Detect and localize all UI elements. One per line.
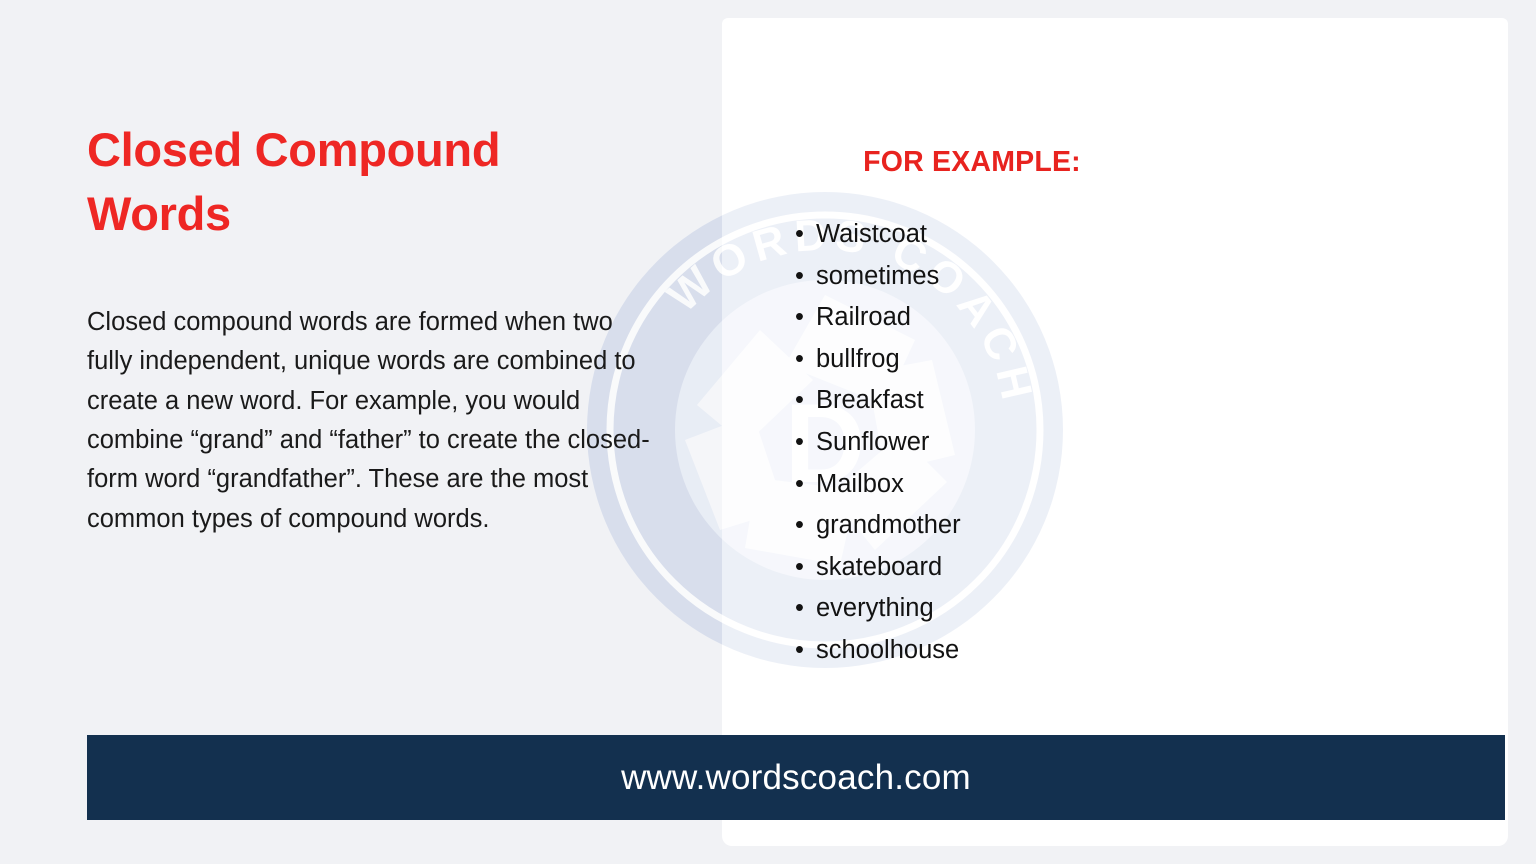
list-item-label: Railroad <box>816 303 911 331</box>
left-column: Closed Compound Words Closed compound wo… <box>87 118 662 539</box>
bullet-icon: • <box>795 380 816 422</box>
bullet-icon: • <box>795 630 816 672</box>
footer-bar: www.wordscoach.com <box>87 735 1505 820</box>
bullet-icon: • <box>795 588 816 630</box>
list-item-label: everything <box>816 594 934 622</box>
list-item: •bullfrog <box>795 339 961 381</box>
list-item-label: Waistcoat <box>816 220 927 248</box>
slide-root: D WORDS COACH Closed Compound Words Clos… <box>0 0 1536 864</box>
bullet-icon: • <box>795 297 816 339</box>
list-item-label: Mailbox <box>816 470 904 498</box>
bullet-icon: • <box>795 214 816 256</box>
description-paragraph: Closed compound words are formed when tw… <box>87 303 657 539</box>
list-item: •Mailbox <box>795 464 961 506</box>
list-item: •Breakfast <box>795 380 961 422</box>
list-item-label: sometimes <box>816 262 939 290</box>
list-item-label: schoolhouse <box>816 636 959 664</box>
example-words-list: •Waistcoat•sometimes•Railroad•bullfrog•B… <box>795 214 961 672</box>
list-item-label: Sunflower <box>816 428 929 456</box>
list-item-label: Breakfast <box>816 386 924 414</box>
bullet-icon: • <box>795 339 816 381</box>
list-item-label: skateboard <box>816 553 942 581</box>
bullet-icon: • <box>795 464 816 506</box>
list-item: •sometimes <box>795 256 961 298</box>
bullet-icon: • <box>795 505 816 547</box>
page-title: Closed Compound Words <box>87 118 607 247</box>
bullet-icon: • <box>795 422 816 464</box>
list-item: •everything <box>795 588 961 630</box>
list-item: •schoolhouse <box>795 630 961 672</box>
list-item-label: grandmother <box>816 511 961 539</box>
bullet-icon: • <box>795 547 816 589</box>
website-url[interactable]: www.wordscoach.com <box>621 758 971 798</box>
bullet-icon: • <box>795 256 816 298</box>
list-item: •Sunflower <box>795 422 961 464</box>
list-item: •skateboard <box>795 547 961 589</box>
list-item-label: bullfrog <box>816 345 900 373</box>
for-example-heading: FOR EXAMPLE: <box>722 146 1222 179</box>
list-item: •grandmother <box>795 505 961 547</box>
list-item: •Waistcoat <box>795 214 961 256</box>
list-item: •Railroad <box>795 297 961 339</box>
